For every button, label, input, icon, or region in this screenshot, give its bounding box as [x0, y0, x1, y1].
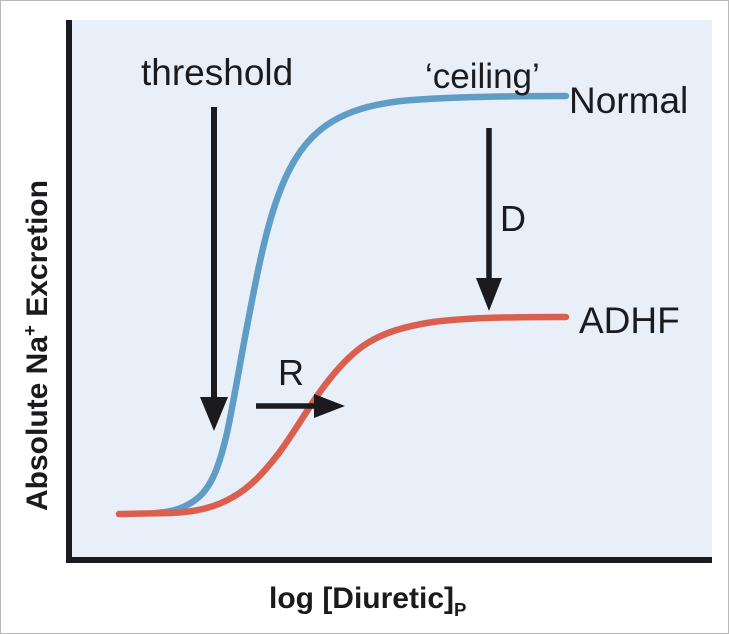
- y-axis-title-part1: Absolute Na: [21, 336, 54, 511]
- annotation-label-r: R: [278, 352, 304, 393]
- figure-container: threshold ‘ceiling’ D R Normal ADHF Abso…: [0, 0, 729, 634]
- x-axis-title: log [Diuretic]P: [269, 582, 466, 620]
- series-label-adhf: ADHF: [579, 300, 680, 341]
- y-axis-title-superscript: +: [19, 325, 40, 336]
- x-axis-title-subscript: P: [454, 599, 466, 620]
- x-axis-title-main: log [Diuretic]: [269, 582, 454, 615]
- y-axis-title-part2: Excretion: [21, 180, 54, 325]
- diuretic-dose-response-chart: threshold ‘ceiling’ D R Normal ADHF Abso…: [1, 1, 728, 633]
- annotation-label-d: D: [500, 198, 526, 239]
- series-label-normal: Normal: [569, 80, 688, 121]
- annotation-label-ceiling: ‘ceiling’: [425, 57, 540, 96]
- annotation-label-threshold: threshold: [141, 52, 293, 93]
- y-axis-title: Absolute Na+ Excretion: [19, 180, 54, 511]
